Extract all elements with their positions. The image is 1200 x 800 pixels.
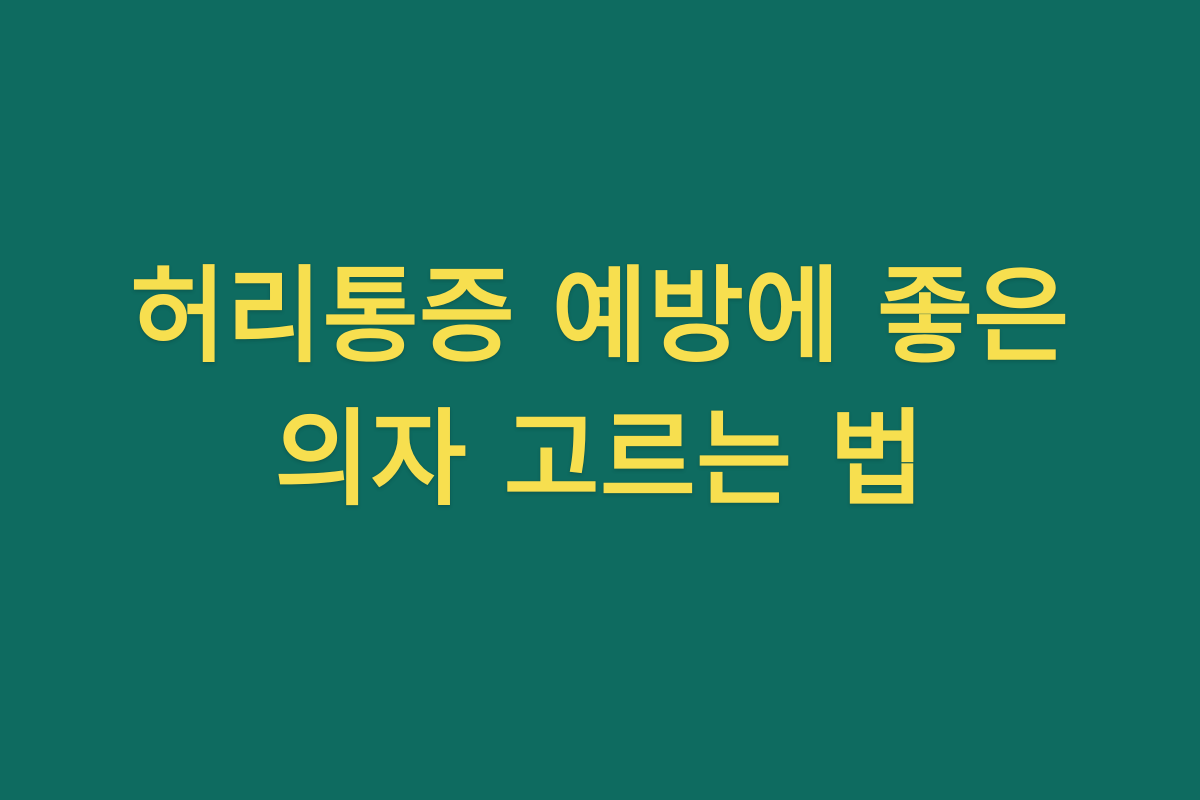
headline-line-1: 허리통증 예방에 좋은 [0, 244, 1200, 389]
headline-block: 허리통증 예방에 좋은 의자 고르는 법 [0, 244, 1200, 532]
title-card: 허리통증 예방에 좋은 의자 고르는 법 [0, 0, 1200, 800]
headline-line-2: 의자 고르는 법 [0, 387, 1200, 532]
